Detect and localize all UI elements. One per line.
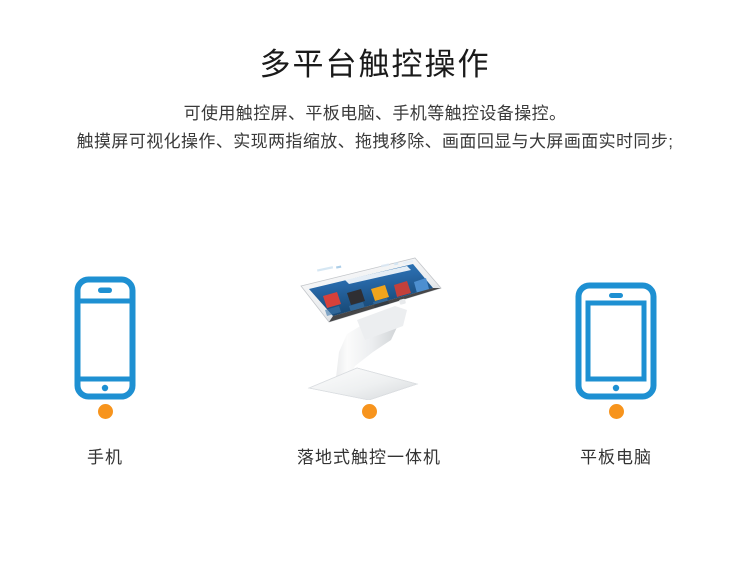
tablet-icon — [575, 282, 657, 400]
bullet-dot-tablet — [609, 404, 624, 419]
bullet-dot-kiosk — [362, 404, 377, 419]
caption-cell-tablet: 平板电脑 — [496, 404, 736, 468]
smartphone-icon — [74, 276, 136, 400]
subtitle-line-1: 可使用触控屏、平板电脑、手机等触控设备操控。 — [0, 100, 750, 128]
floor-standing-touch-kiosk-photo — [295, 248, 443, 400]
device-label-tablet: 平板电脑 — [496, 443, 736, 468]
caption-cell-phone: 手机 — [0, 404, 225, 468]
page-title: 多平台触控操作 — [0, 46, 750, 83]
device-label-kiosk: 落地式触控一体机 — [249, 443, 489, 468]
device-slot-kiosk — [269, 225, 469, 400]
device-label-phone: 手机 — [0, 443, 225, 468]
caption-cell-kiosk: 落地式触控一体机 — [249, 404, 489, 468]
device-slot-tablet — [516, 225, 716, 400]
bullet-dot-phone — [98, 404, 113, 419]
subtitle-line-2: 触摸屏可视化操作、实现两指缩放、拖拽移除、画面回显与大屏画面实时同步; — [0, 128, 750, 156]
header: 多平台触控操作 可使用触控屏、平板电脑、手机等触控设备操控。 触摸屏可视化操作、… — [0, 0, 750, 155]
device-slot-phone — [5, 225, 205, 400]
subtitle-block: 可使用触控屏、平板电脑、手机等触控设备操控。 触摸屏可视化操作、实现两指缩放、拖… — [0, 100, 750, 155]
device-illustration-row — [0, 225, 750, 400]
